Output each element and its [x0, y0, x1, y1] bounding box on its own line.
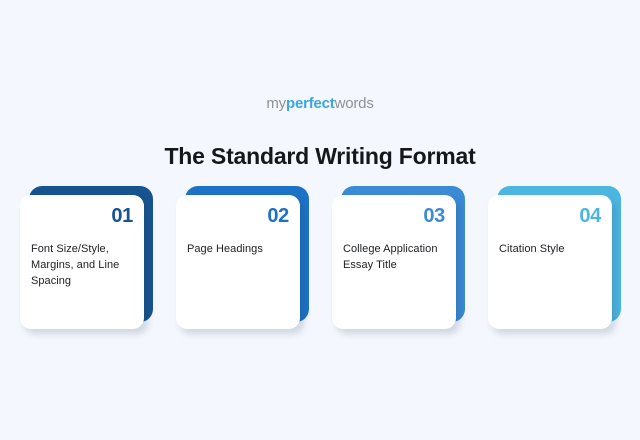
card-face: 01 Font Size/Style, Margins, and Line Sp…	[20, 195, 144, 329]
card-face: 04 Citation Style	[488, 195, 612, 329]
brand-logo-part-my: my	[266, 95, 286, 112]
list-item: 03 College Application Essay Title	[332, 186, 465, 334]
card-number: 03	[343, 204, 445, 228]
card-label: Page Headings	[187, 241, 289, 257]
page-title: The Standard Writing Format	[0, 141, 640, 171]
card-label: Font Size/Style, Margins, and Line Spaci…	[31, 241, 133, 289]
card-face: 02 Page Headings	[176, 195, 300, 329]
infographic-page: myperfectwords The Standard Writing Form…	[0, 0, 640, 440]
card-list: 01 Font Size/Style, Margins, and Line Sp…	[20, 186, 622, 334]
brand-logo-part-words: words	[335, 95, 374, 112]
card-face: 03 College Application Essay Title	[332, 195, 456, 329]
card-number: 02	[187, 204, 289, 228]
card-number: 04	[499, 204, 601, 228]
card-label: College Application Essay Title	[343, 241, 445, 273]
list-item: 04 Citation Style	[488, 186, 621, 334]
list-item: 02 Page Headings	[176, 186, 309, 334]
brand-logo-part-perfect: perfect	[286, 95, 335, 112]
brand-logo: myperfectwords	[0, 95, 640, 113]
list-item: 01 Font Size/Style, Margins, and Line Sp…	[20, 186, 153, 334]
card-label: Citation Style	[499, 241, 601, 257]
card-number: 01	[31, 204, 133, 228]
